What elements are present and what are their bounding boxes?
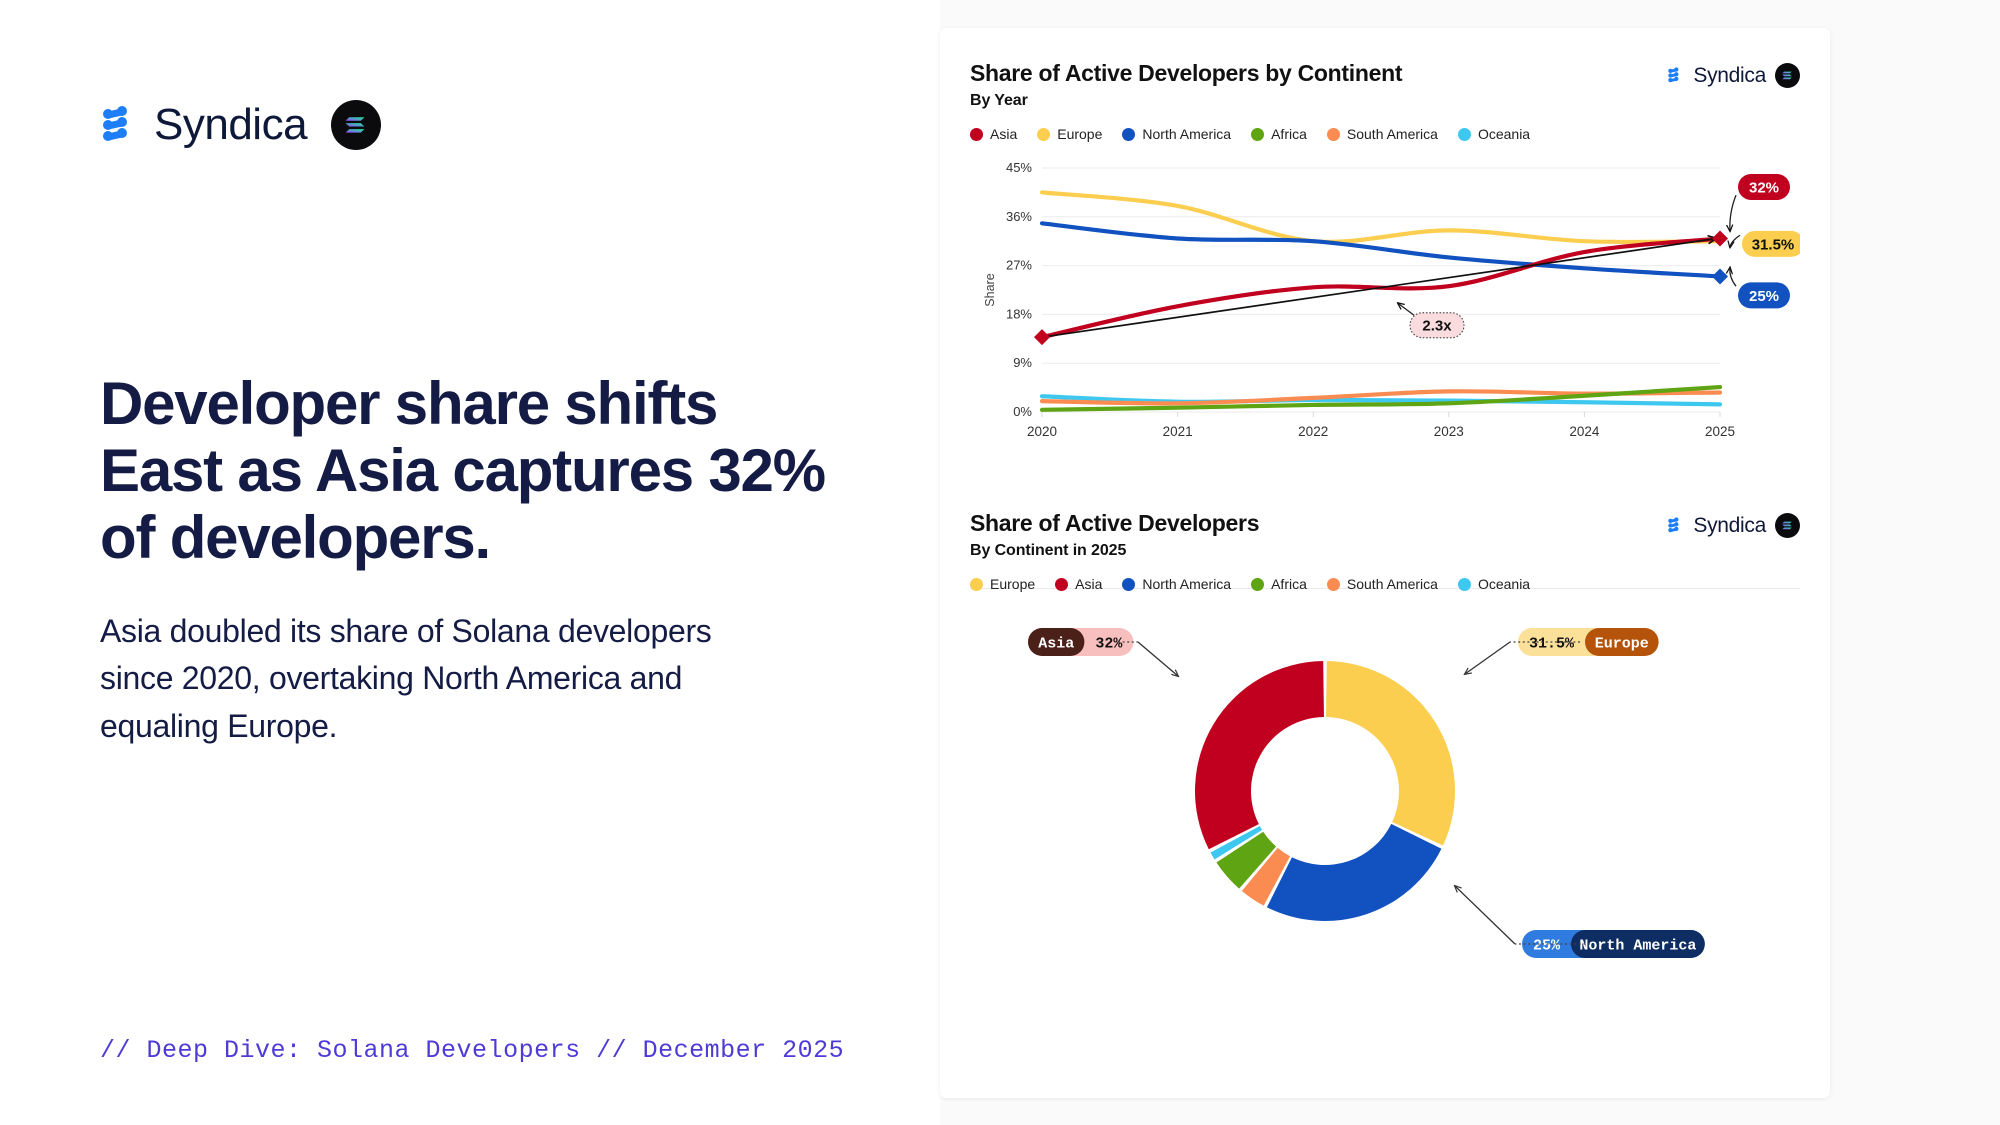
legend-swatch-icon: [1055, 578, 1068, 591]
donut-chart-plot-area: Asia32%31.5%Europe25%North America: [970, 596, 1800, 996]
growth-multiple-badge: 2.3x: [1410, 313, 1464, 338]
syndica-wordmark: Syndica: [1693, 514, 1766, 538]
asia-start-marker: [1034, 329, 1050, 345]
line-chart-plot-area: 0%9%18%27%36%45%Share2020202120222023202…: [970, 150, 1800, 480]
footer-note: // Deep Dive: Solana Developers // Decem…: [100, 1036, 844, 1065]
legend-label: Oceania: [1478, 126, 1530, 142]
legend-swatch-icon: [970, 578, 983, 591]
legend-item-south-america[interactable]: South America: [1327, 576, 1438, 592]
y-axis-tick-label: 9%: [1013, 355, 1032, 370]
legend-swatch-icon: [1327, 128, 1340, 141]
donut-chart-legend: Europe Asia North America Africa South A…: [970, 576, 1800, 592]
syndica-logo-icon: [1667, 67, 1684, 84]
y-axis-tick-label: 18%: [1006, 306, 1032, 321]
line-chart-panel: Share of Active Developers by Continent …: [940, 28, 1830, 480]
x-axis-tick-label: 2025: [1705, 424, 1735, 439]
x-axis-tick-label: 2021: [1163, 424, 1193, 439]
line-chart-title: Share of Active Developers by Continent: [970, 60, 1402, 87]
donut-chart-panel: Share of Active Developers By Continent …: [940, 480, 1830, 996]
donut-chart-header: Share of Active Developers By Continent …: [970, 510, 1800, 560]
legend-item-oceania[interactable]: Oceania: [1458, 126, 1530, 142]
solana-logo-badge: [1775, 513, 1800, 538]
donut-chart-svg: Asia32%31.5%Europe25%North America: [970, 596, 1800, 996]
line-chart-brand: Syndica: [1667, 60, 1800, 88]
legend-item-asia[interactable]: Asia: [1055, 576, 1102, 592]
callout-value: 25%: [1533, 938, 1561, 955]
asia-end-badge: 32%: [1738, 174, 1790, 200]
legend-label: Africa: [1271, 126, 1307, 142]
syndica-wordmark: Syndica: [1693, 64, 1766, 88]
legend-label: South America: [1347, 576, 1438, 592]
badge-label: 2.3x: [1422, 318, 1452, 335]
charts-card: Share of Active Developers by Continent …: [940, 28, 1830, 1098]
legend-item-north-america[interactable]: North America: [1122, 126, 1231, 142]
y-axis-tick-label: 36%: [1006, 209, 1032, 224]
europe-callout: 31.5%Europe: [1518, 628, 1659, 656]
callout-value: 32%: [1095, 636, 1123, 653]
callout-label: Europe: [1595, 636, 1649, 653]
legend-swatch-icon: [1327, 578, 1340, 591]
north-america-end-badge: 25%: [1738, 282, 1790, 308]
callout-arrow: [1730, 268, 1736, 286]
callout-arrow: [1730, 235, 1740, 247]
solana-logo-icon: [343, 112, 369, 138]
badge-label: 32%: [1749, 179, 1779, 196]
badge-label: 25%: [1749, 288, 1779, 305]
legend-item-europe[interactable]: Europe: [970, 576, 1035, 592]
callout-arrow: [1465, 642, 1510, 674]
legend-swatch-icon: [1122, 128, 1135, 141]
donut-chart-subtitle: By Continent in 2025: [970, 542, 1259, 560]
north-america-end-marker: [1712, 268, 1728, 284]
donut-chart-brand: Syndica: [1667, 510, 1800, 538]
legend-swatch-icon: [1251, 128, 1264, 141]
north-america-callout: 25%North America: [1522, 930, 1705, 958]
legend-item-africa[interactable]: Africa: [1251, 576, 1307, 592]
donut-slice-asia[interactable]: [1195, 661, 1324, 849]
syndica-logo-icon: [1667, 517, 1684, 534]
donut-slice-europe[interactable]: [1326, 661, 1455, 846]
callout-arrow: [1398, 303, 1414, 315]
solana-logo-icon: [1781, 69, 1794, 82]
y-axis-tick-label: 27%: [1006, 258, 1032, 273]
y-axis-tick-label: 0%: [1013, 404, 1032, 419]
growth-trend-arrow: [1042, 238, 1716, 337]
legend-label: Oceania: [1478, 576, 1530, 592]
callout-arrow: [1730, 195, 1736, 231]
legend-item-africa[interactable]: Africa: [1251, 126, 1307, 142]
syndica-logo: Syndica: [100, 103, 307, 147]
syndica-logo-icon: [100, 105, 140, 145]
legend-label: Europe: [990, 576, 1035, 592]
syndica-wordmark: Syndica: [154, 103, 307, 147]
y-axis-tick-label: 45%: [1006, 160, 1032, 175]
callout-label: Asia: [1038, 636, 1074, 653]
legend-item-south-america[interactable]: South America: [1327, 126, 1438, 142]
y-axis-title: Share: [983, 273, 997, 306]
legend-swatch-icon: [1122, 578, 1135, 591]
page-subtitle: Asia doubled its share of Solana develop…: [100, 608, 740, 750]
callout-arrow: [1138, 642, 1178, 676]
europe-end-badge: 31.5%: [1742, 231, 1800, 257]
line-chart-svg: 0%9%18%27%36%45%Share2020202120222023202…: [970, 150, 1800, 480]
legend-label: North America: [1142, 576, 1231, 592]
legend-swatch-icon: [970, 128, 983, 141]
legend-item-north-america[interactable]: North America: [1122, 576, 1231, 592]
callout-arrow: [1455, 886, 1515, 944]
line-chart-legend: Asia Europe North America Africa South A…: [970, 126, 1800, 142]
donut-slice-north-america[interactable]: [1267, 824, 1442, 921]
asia-callout: Asia32%: [1028, 628, 1133, 656]
solana-logo-icon: [1781, 519, 1794, 532]
brand-lockup: Syndica: [100, 100, 381, 150]
asia-end-marker: [1712, 230, 1728, 246]
legend-item-europe[interactable]: Europe: [1037, 126, 1102, 142]
solana-logo-badge: [331, 100, 381, 150]
x-axis-tick-label: 2020: [1027, 424, 1057, 439]
legend-item-oceania[interactable]: Oceania: [1458, 576, 1530, 592]
solana-logo-badge: [1775, 63, 1800, 88]
x-axis-tick-label: 2022: [1298, 424, 1328, 439]
legend-swatch-icon: [1037, 128, 1050, 141]
legend-item-asia[interactable]: Asia: [970, 126, 1017, 142]
legend-label: Asia: [1075, 576, 1102, 592]
callout-label: North America: [1579, 938, 1696, 955]
left-content-panel: Syndica Developer share shifts East as A…: [0, 0, 940, 1125]
legend-label: Asia: [990, 126, 1017, 142]
donut-chart-title: Share of Active Developers: [970, 510, 1259, 537]
callout-value: 31.5%: [1529, 636, 1575, 653]
legend-label: Africa: [1271, 576, 1307, 592]
legend-swatch-icon: [1251, 578, 1264, 591]
line-series-north-america: [1042, 223, 1720, 276]
page-title: Developer share shifts East as Asia capt…: [100, 370, 840, 572]
legend-label: South America: [1347, 126, 1438, 142]
legend-swatch-icon: [1458, 578, 1471, 591]
x-axis-tick-label: 2023: [1434, 424, 1464, 439]
legend-label: North America: [1142, 126, 1231, 142]
line-chart-header: Share of Active Developers by Continent …: [970, 60, 1800, 110]
legend-swatch-icon: [1458, 128, 1471, 141]
x-axis-tick-label: 2024: [1569, 424, 1600, 439]
legend-label: Europe: [1057, 126, 1102, 142]
line-chart-subtitle: By Year: [970, 92, 1402, 110]
badge-label: 31.5%: [1752, 236, 1795, 253]
